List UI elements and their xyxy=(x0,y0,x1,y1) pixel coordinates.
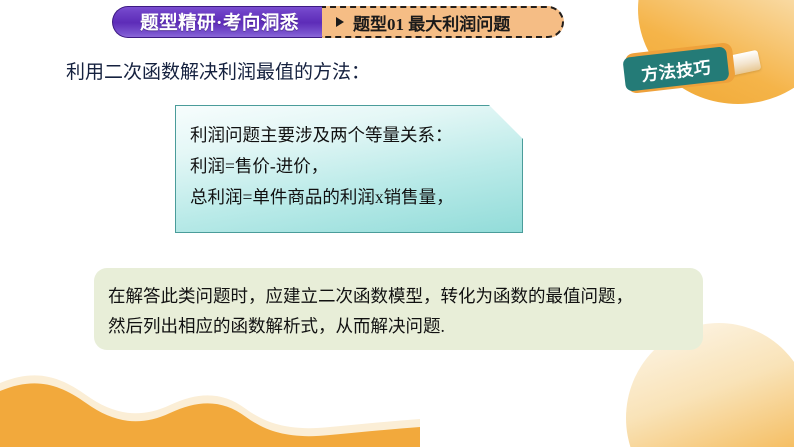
key-relations-line-2: 利润=售价-进价， xyxy=(190,151,522,182)
topic-tab[interactable]: 题型01 最大利润问题 xyxy=(320,6,564,38)
slide-canvas: 题型精研·考向洞悉 题型01 最大利润问题 方法技巧 利用二次函数解决利润最值的… xyxy=(0,0,794,447)
summary-box: 在解答此类问题时，应建立二次函数模型，转化为函数的最值问题， 然后列出相应的函数… xyxy=(94,268,703,350)
section-title-label: 题型精研·考向洞悉 xyxy=(140,9,299,35)
key-relations-line-1: 利润问题主要涉及两个等量关系： xyxy=(190,120,522,151)
summary-line-1: 在解答此类问题时，应建立二次函数模型，转化为函数的最值问题， xyxy=(108,281,703,311)
triangle-right-icon xyxy=(336,17,344,27)
intro-text: 利用二次函数解决利润最值的方法： xyxy=(66,57,370,84)
header-banner: 题型精研·考向洞悉 题型01 最大利润问题 xyxy=(112,6,564,38)
summary-line-2: 然后列出相应的函数解析式，从而解决问题. xyxy=(108,311,703,341)
method-tips-tag: 方法技巧 xyxy=(624,44,744,98)
key-relations-box: 利润问题主要涉及两个等量关系： 利润=售价-进价， 总利润=单件商品的利润x销售… xyxy=(175,105,523,233)
key-relations-line-3: 总利润=单件商品的利润x销售量， xyxy=(190,182,522,213)
topic-label: 题型01 最大利润问题 xyxy=(353,10,510,35)
decorative-wave-bottom-left xyxy=(0,361,420,447)
method-tips-label: 方法技巧 xyxy=(640,53,712,86)
section-title-tab[interactable]: 题型精研·考向洞悉 xyxy=(112,6,322,38)
wave-shape-icon xyxy=(0,361,420,447)
